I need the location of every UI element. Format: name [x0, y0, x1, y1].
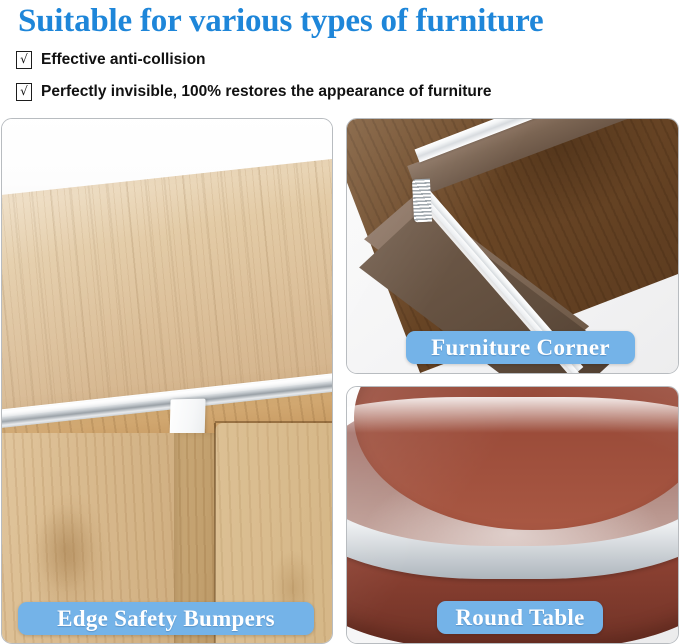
caption-round-table: Round Table — [437, 601, 603, 634]
bullet-item: √ Perfectly invisible, 100% restores the… — [16, 83, 492, 101]
check-square-icon: √ — [16, 83, 32, 101]
bumper-corner-joint — [412, 178, 432, 222]
caption-furniture-corner: Furniture Corner — [406, 331, 635, 364]
rim-highlight — [347, 397, 678, 443]
caption-edge-safety-bumpers: Edge Safety Bumpers — [18, 602, 314, 635]
photo-edge-safety-bumpers — [2, 119, 332, 643]
product-panel-edge-bumpers — [1, 118, 333, 644]
check-square-icon: √ — [16, 51, 32, 69]
bullet-text: Effective anti-collision — [41, 51, 206, 69]
header: Suitable for various types of furniture … — [0, 0, 679, 115]
page-title: Suitable for various types of furniture — [18, 1, 543, 41]
bullet-text: Perfectly invisible, 100% restores the a… — [41, 83, 492, 101]
cabinet-seam-horizontal — [215, 421, 332, 423]
bullet-item: √ Effective anti-collision — [16, 51, 206, 69]
